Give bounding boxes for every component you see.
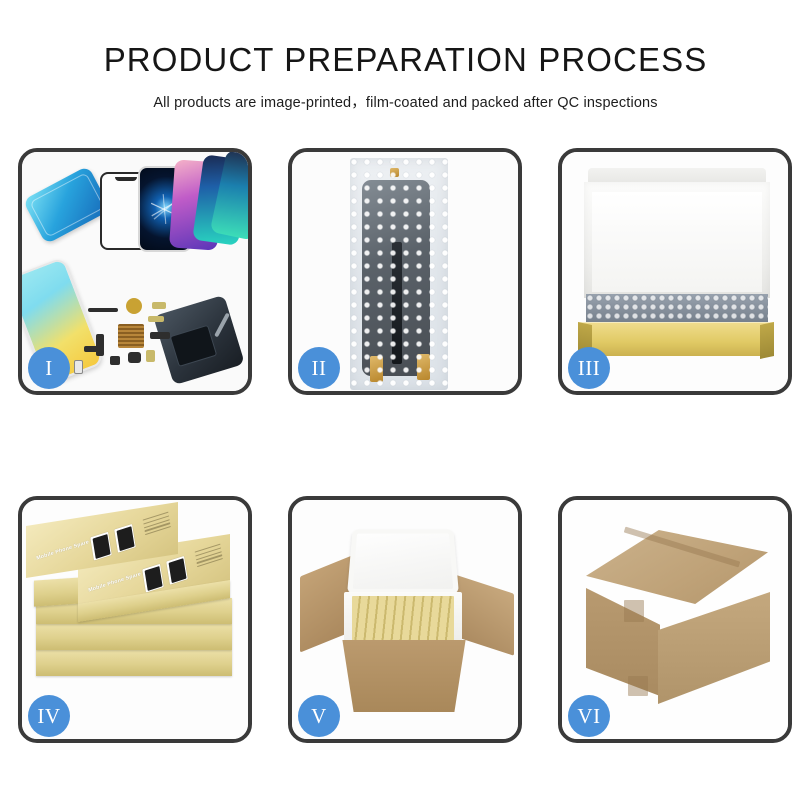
page-title: PRODUCT PREPARATION PROCESS [0, 42, 811, 78]
step-3-photo: III [562, 152, 788, 391]
foam-sheet [592, 192, 762, 292]
step-badge-4: IV [28, 695, 70, 737]
box-spec-front [195, 544, 224, 570]
step-6-photo: VI [562, 500, 788, 739]
carton-top-face [586, 530, 768, 604]
part-battery-cell [74, 360, 83, 374]
stacked-box-4 [36, 624, 232, 650]
step-4-photo: Mobile Phone Spare Parts Mobile Phone Sp… [22, 500, 248, 739]
part-shield-mesh [118, 324, 144, 348]
part-vibrator [110, 356, 120, 365]
yellow-box-base [578, 322, 774, 356]
part-connector-c [150, 332, 170, 339]
part-connector-a [96, 334, 104, 356]
carton-left-face [586, 588, 660, 696]
part-earpiece-mesh [88, 308, 118, 312]
gold-boxes-inside [352, 596, 454, 642]
phone-back-housing [153, 295, 245, 385]
carton-front-panel [334, 640, 474, 712]
step-badge-5: V [298, 695, 340, 737]
part-sim-tray [146, 350, 155, 362]
gold-connector-right [417, 354, 430, 380]
header: PRODUCT PREPARATION PROCESS All products… [0, 0, 811, 112]
step-badge-6: VI [568, 695, 610, 737]
process-step-3: III [558, 148, 792, 395]
process-step-5: V [288, 496, 522, 743]
box-thumb-front-b [166, 556, 188, 585]
gold-connector-left [370, 356, 383, 382]
gold-tab-top [390, 168, 399, 177]
stacked-box-5 [36, 650, 232, 676]
process-step-2: II [288, 148, 522, 395]
part-camera-module [128, 352, 141, 363]
box-spec-back [143, 512, 172, 538]
screen-flex-cable [392, 242, 402, 364]
box-thumb-back-b [114, 524, 136, 553]
process-step-6: VI [558, 496, 792, 743]
styrofoam-lid [347, 529, 459, 594]
part-flex-cable-a [152, 302, 166, 309]
page-subtitle: All products are image-printed，film-coat… [0, 91, 811, 112]
bubble-wrap-sleeve [350, 158, 448, 390]
step-badge-3: III [568, 347, 610, 389]
product-preparation-infographic: PRODUCT PREPARATION PROCESS All products… [0, 0, 811, 811]
carton-tape-lower [628, 676, 648, 696]
part-connector-b [84, 346, 102, 352]
step-1-photo: I [22, 152, 248, 391]
box-thumb-back-a [90, 532, 112, 561]
process-steps-grid: I II [18, 148, 793, 743]
step-2-photo: II [292, 152, 518, 391]
process-step-1: I [18, 148, 252, 395]
carton-tape-upper [624, 600, 644, 622]
carton-right-face [658, 592, 770, 704]
process-step-4: Mobile Phone Spare Parts Mobile Phone Sp… [18, 496, 252, 743]
box-thumb-front-a [142, 564, 164, 593]
step-5-photo: V [292, 500, 518, 739]
part-speaker-coil [126, 298, 142, 314]
step-badge-1: I [28, 347, 70, 389]
phone-screen-blue [23, 166, 112, 245]
step-badge-2: II [298, 347, 340, 389]
part-flex-cable-b [148, 316, 164, 322]
